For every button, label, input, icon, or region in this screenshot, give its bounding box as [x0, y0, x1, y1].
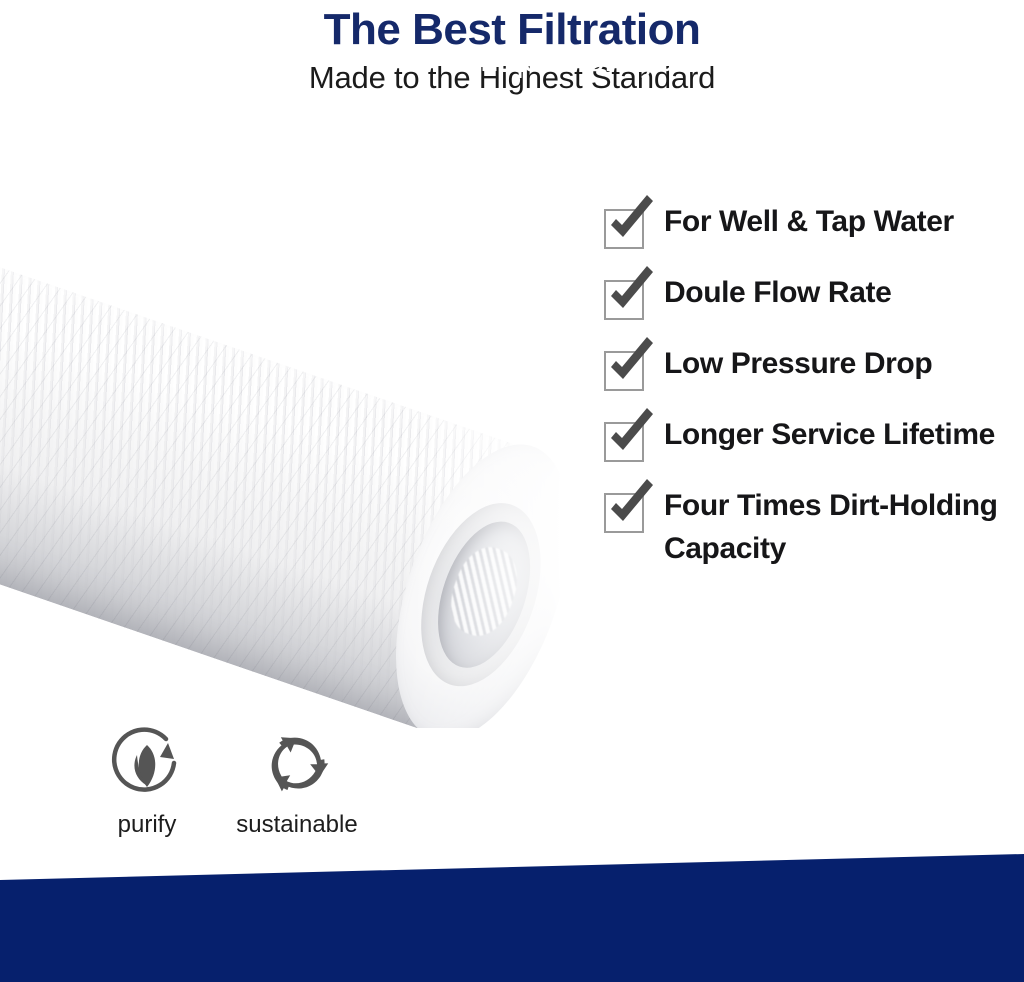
banner-line-2: dirt holding capacity: [302, 82, 1002, 126]
badge-purify: purify: [72, 722, 222, 840]
bottom-banner: [0, 840, 1024, 982]
product-photo: [0, 118, 580, 728]
list-item: Low Pressure Drop: [604, 342, 1004, 391]
product-feature-image: The Best Filtration Made to the Highest …: [0, 0, 1024, 982]
recycle-arrows-icon: [222, 722, 372, 806]
feature-label: Four Times Dirt-Holding Capacity: [664, 484, 1004, 570]
badge-label: purify: [72, 810, 222, 840]
list-item: Doule Flow Rate: [604, 271, 1004, 320]
feature-list: For Well & Tap Water Doule Flow Rate Low…: [604, 200, 1004, 592]
banner-line-1: Unique honeycomb structure increase: [302, 38, 1002, 82]
banner-text: Unique honeycomb structure increase dirt…: [302, 38, 1002, 126]
feature-label: For Well & Tap Water: [664, 200, 954, 243]
checkmark-icon: [604, 351, 644, 391]
feature-label: Low Pressure Drop: [664, 342, 932, 385]
filter-cartridge-illustration: [0, 246, 580, 728]
list-item: For Well & Tap Water: [604, 200, 1004, 249]
feature-label: Doule Flow Rate: [664, 271, 891, 314]
leaf-in-circular-arrow-icon: [72, 722, 222, 806]
badge-row: purify: [72, 722, 372, 840]
list-item: Longer Service Lifetime: [604, 413, 1004, 462]
checkmark-icon: [604, 422, 644, 462]
feature-label: Longer Service Lifetime: [664, 413, 995, 456]
badge-label: sustainable: [222, 810, 372, 840]
checkmark-icon: [604, 493, 644, 533]
badge-sustainable: sustainable: [222, 722, 372, 840]
list-item: Four Times Dirt-Holding Capacity: [604, 484, 1004, 570]
checkmark-icon: [604, 209, 644, 249]
checkmark-icon: [604, 280, 644, 320]
